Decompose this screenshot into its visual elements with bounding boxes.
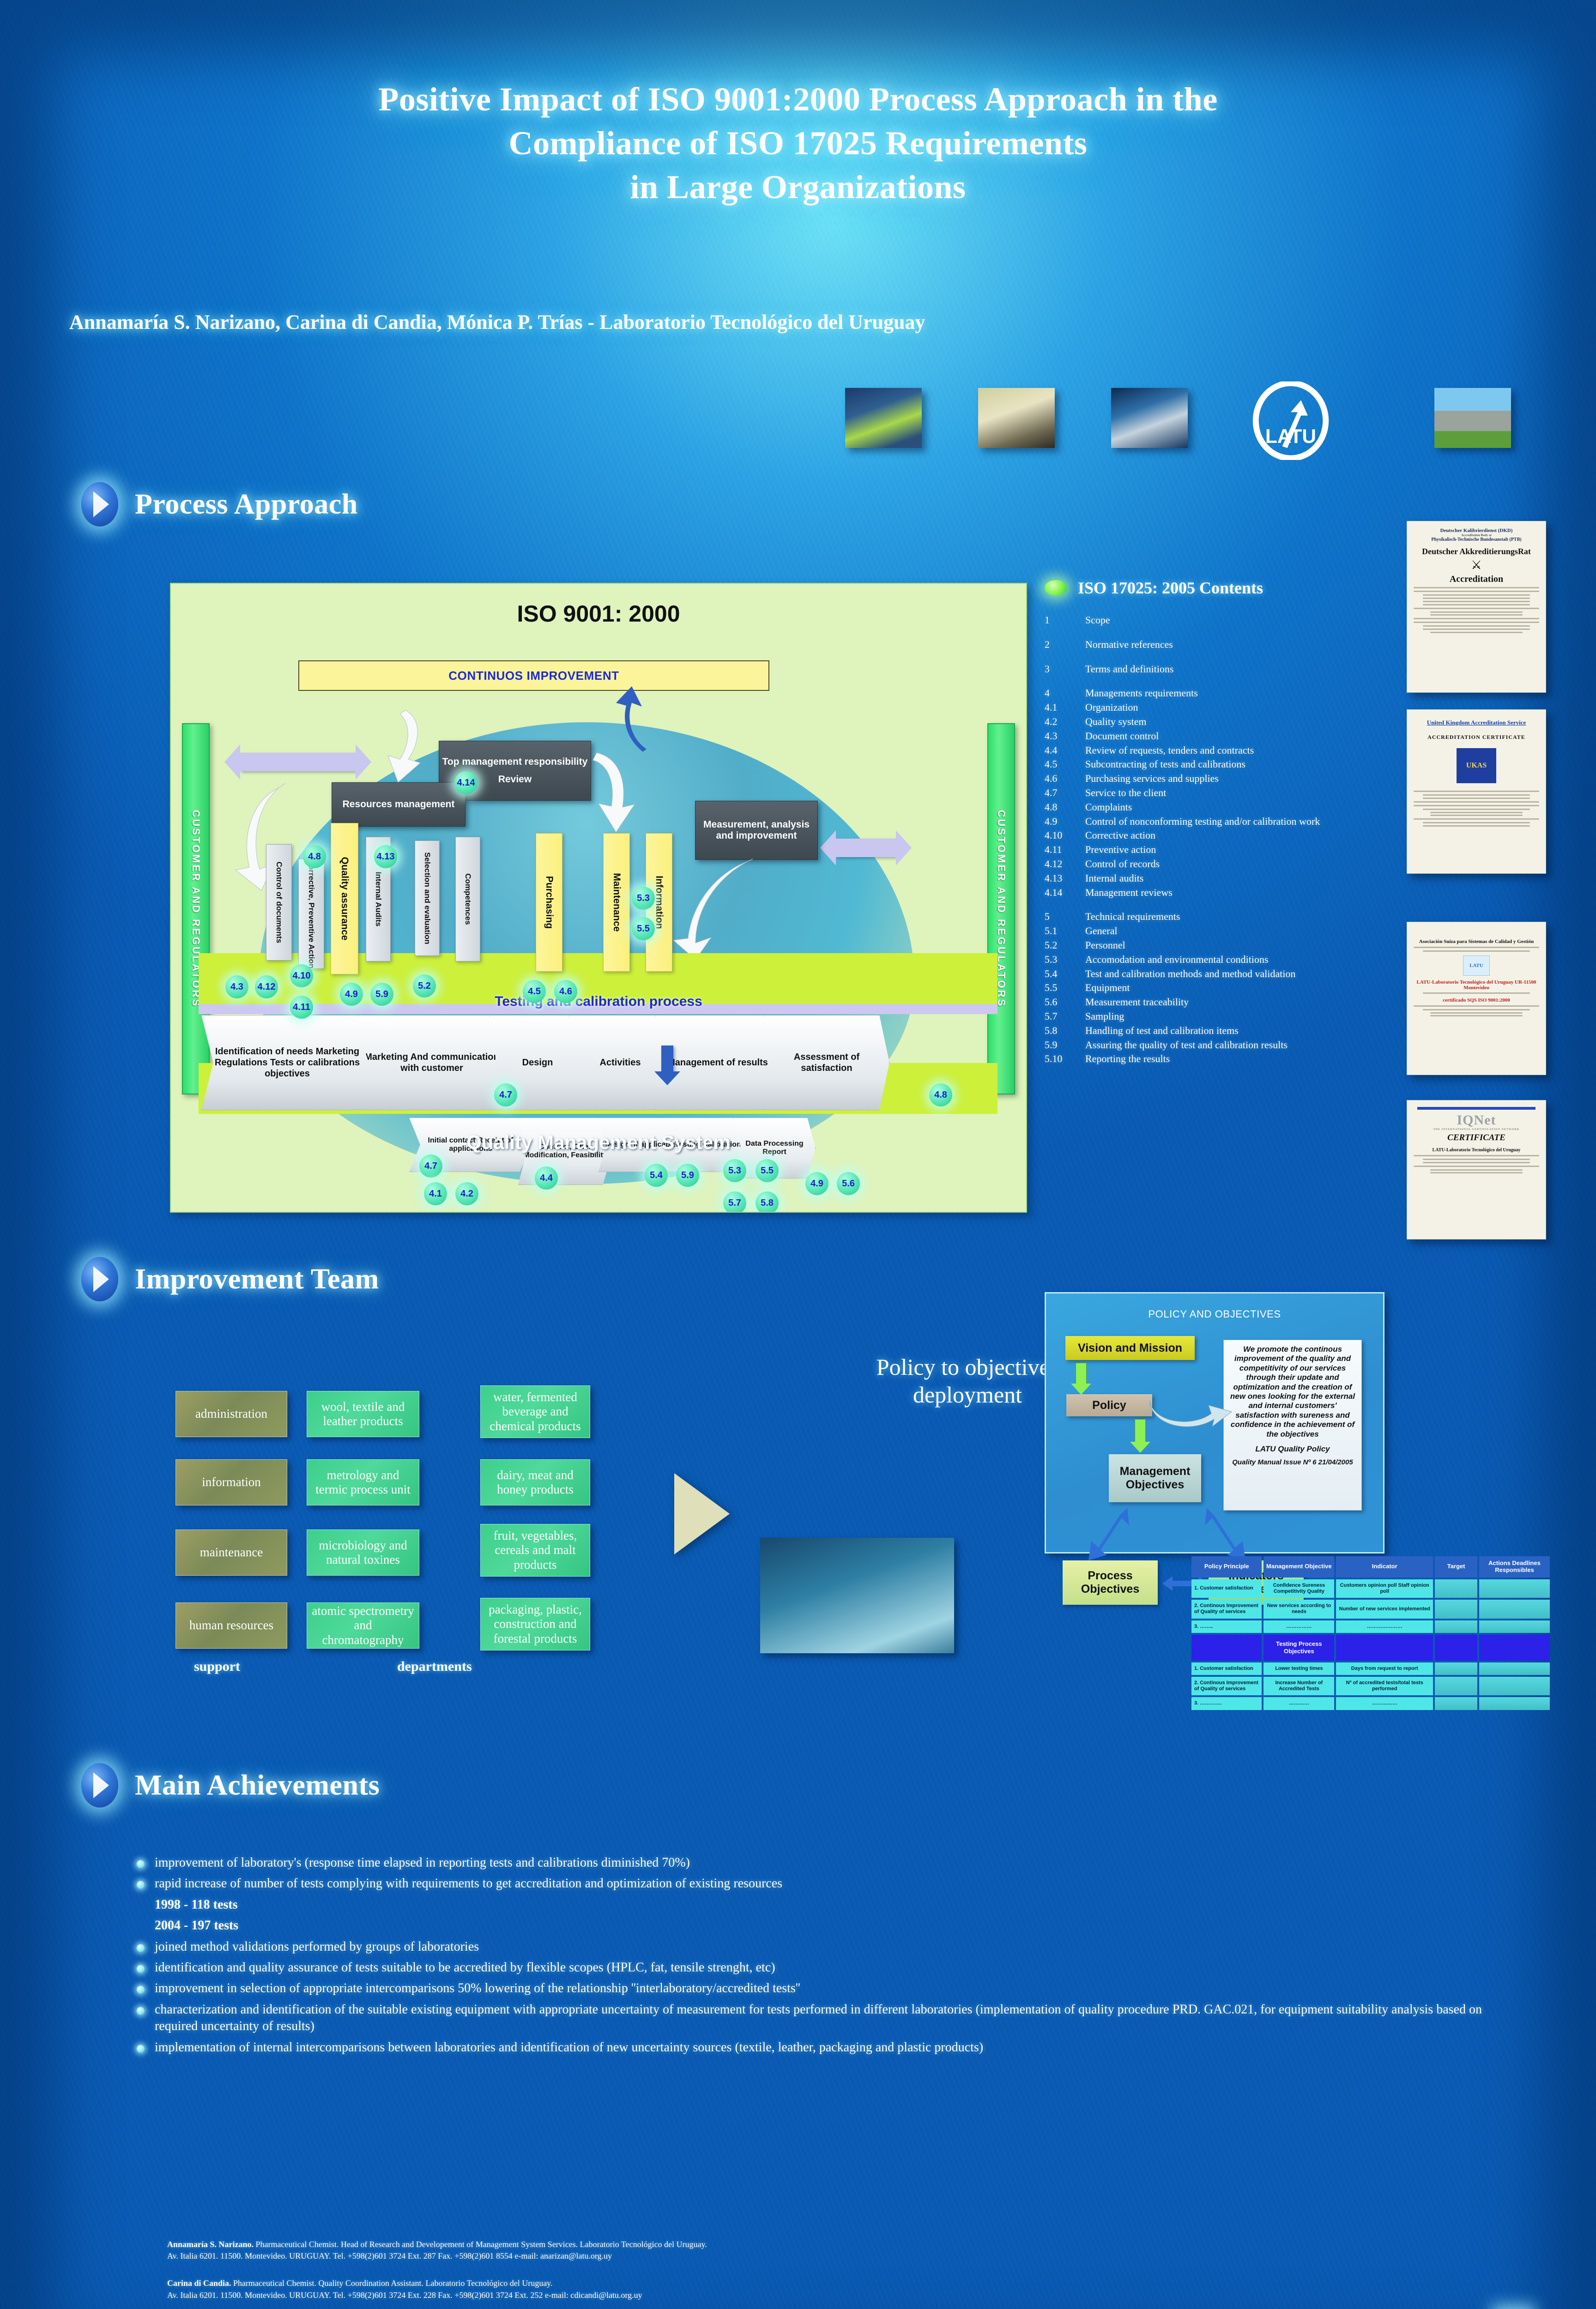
iso-clause-text: Internal audits [1085, 871, 1143, 886]
footer-author-block: Annamaría S. Narizano. Pharmaceutical Ch… [167, 2239, 1229, 2262]
iso-spacer [1045, 900, 1488, 910]
green-dot-icon [1045, 580, 1067, 596]
table-cell: Nº of accredited tests/total tests perfo… [1336, 1677, 1433, 1695]
footer-contacts: Annamaría S. Narizano. Pharmaceutical Ch… [167, 2239, 1229, 2309]
clause-bubble: 5.3 [723, 1159, 746, 1182]
table-cell: Increase Number of Accredited Tests [1263, 1677, 1334, 1695]
vbar-label: Control of documents [275, 862, 283, 943]
cert-head: Deutscher AkkreditierungsRat [1407, 547, 1546, 556]
iso-clause-text: Scope [1085, 613, 1110, 628]
clause-bubble: 5.3 [632, 887, 655, 910]
footer-author-role: Pharmaceutical Chemist. Head of Research… [254, 2240, 707, 2249]
table-separator-row: Testing Process Objectives [1191, 1635, 1550, 1661]
latu-logo: LATU [1247, 381, 1335, 460]
clause-bubble: 5.4 [645, 1164, 668, 1187]
iso-clause-text: Organization [1085, 701, 1138, 715]
vbar-maintenance: Maintenance [603, 833, 630, 972]
clause-bubble: 4.7 [494, 1083, 517, 1106]
vbar-competences: Competences [455, 837, 480, 961]
clause-bubble: 4.5 [523, 980, 546, 1003]
iso-clause-number: 4 [1045, 686, 1085, 701]
process-step-4: Activities [569, 1015, 671, 1110]
diagram-title: ISO 9001: 2000 [171, 600, 1026, 627]
ukas-logo: UKAS [1457, 748, 1496, 783]
iso-clause-text: Preventive action [1085, 843, 1156, 857]
table-separator-cell [1479, 1635, 1550, 1661]
vbar-label: Corrective, Preventive Action [307, 859, 315, 969]
iso-clause-number: 4.5 [1045, 757, 1085, 772]
iso-clause-text: Test and calibration methods and method … [1085, 967, 1295, 981]
iso-clause-number: 2 [1045, 638, 1085, 652]
table-cell [1479, 1697, 1550, 1710]
iso-clause-number: 4.8 [1045, 800, 1085, 815]
iso-clause-number: 4.2 [1045, 715, 1085, 729]
table-cell: 2. Continous Improvement of Quality of s… [1191, 1677, 1262, 1695]
vbar-label: Internal Audits [374, 872, 382, 926]
dept-box-microbiology: microbiology and natural toxines [307, 1529, 419, 1576]
support-box-human-resources: human resources [175, 1602, 287, 1649]
iso-clause-text: Assuring the quality of test and calibra… [1085, 1038, 1288, 1052]
table-cell [1435, 1579, 1477, 1598]
clause-bubble: 4.9 [805, 1172, 828, 1195]
team-meeting-photo [760, 1538, 954, 1653]
table-cell: …………… [1263, 1620, 1334, 1633]
table-row: 3. ………….……………………… [1191, 1697, 1550, 1710]
iso-clause-number: 4.10 [1045, 828, 1085, 843]
cert-kind: CERTIFICATE [1407, 1133, 1546, 1143]
footer-author-contact: Av. Italia 6201. 11500. Montevideo. URUG… [167, 2250, 1229, 2262]
vbar-quality-assurance: Quality assurance [331, 823, 358, 974]
curved-arrow-to-quote [1147, 1398, 1234, 1433]
clause-bubble: 5.5 [756, 1159, 779, 1182]
table-row: 2. Continous Improvement of Quality of s… [1191, 1600, 1550, 1618]
clause-bubble: 4.7 [419, 1154, 442, 1178]
table-cell: Days from request to report [1336, 1662, 1433, 1675]
table-cell [1435, 1620, 1477, 1633]
col-indicator: Indicator [1336, 1556, 1433, 1578]
iso-clause-number: 4.1 [1045, 701, 1085, 715]
vbar-label: Information [653, 876, 665, 929]
play-bullet-icon [81, 482, 118, 526]
vbar-selection-evaluation: Selection and evaluation [415, 840, 440, 956]
latu-mini-logo: LATU [1463, 955, 1490, 976]
table-cell [1479, 1662, 1550, 1675]
col-management-objective: Management Objective [1263, 1556, 1334, 1578]
certificate-ukas: United Kingdom Accreditation Service ACC… [1407, 709, 1546, 874]
iso-clause-number: 1 [1045, 613, 1085, 628]
table-cell: Customers opinion poll Staff opinion pol… [1336, 1579, 1433, 1598]
white-swoosh-arrow-2 [586, 748, 649, 836]
dept-box-spectrometry: atomic spectrometry and chromatography [307, 1602, 419, 1649]
clause-bubble: 5.2 [413, 974, 436, 997]
iso-clause-text: Subcontracting of tests and calibrations [1085, 757, 1245, 772]
iso17025-title: ISO 17025: 2005 Contents [1078, 578, 1263, 598]
table-cell: New services according to needs [1263, 1600, 1334, 1618]
dept-box-water-beverage: water, fermented beverage and chemical p… [480, 1385, 590, 1438]
section-title: Main Achievements [135, 1769, 380, 1802]
poster-title: Positive Impact of ISO 9001:2000 Process… [0, 78, 1596, 209]
process-step-5: Management of results [655, 1015, 780, 1110]
clause-bubble: 5.8 [756, 1191, 779, 1213]
section-title: Process Approach [135, 488, 358, 521]
table-row: 1. Customer satisfactionConfidence Suren… [1191, 1579, 1550, 1598]
iso-clause-text: Normative references [1085, 638, 1173, 652]
po-line2: Objectives [1081, 1583, 1139, 1596]
footer-author-role: Pharmaceutical Chemist. Quality Coordina… [231, 2279, 553, 2288]
table-cell [1435, 1697, 1477, 1710]
section-title: Improvement Team [135, 1263, 379, 1296]
clause-bubble: 5.9 [676, 1164, 699, 1187]
policy-quote: We promote the continous improvement of … [1229, 1345, 1356, 1439]
iso-clause-number: 5.4 [1045, 967, 1085, 981]
blue-down-arrow [661, 1046, 673, 1072]
achievement-item: joined method validations performed by g… [137, 1939, 1522, 1955]
play-bullet-icon [81, 1257, 118, 1301]
green-arrow-vm-to-policy [1076, 1363, 1087, 1384]
table-separator-cell [1336, 1635, 1433, 1661]
dept-box-dairy-meat: dairy, meat and honey products [480, 1459, 590, 1505]
support-box-administration: administration [175, 1391, 287, 1437]
white-swoosh-arrow-1 [378, 707, 438, 786]
clause-bubble: 5.9 [370, 983, 393, 1006]
iso-clause-text: General [1085, 924, 1118, 938]
eagle-icon: ⚔ [1407, 558, 1546, 572]
cert-sub: Accreditation Body at [1407, 533, 1546, 537]
lab-instrument-photo [1111, 388, 1188, 448]
process-step-2: Marketing And communication with custome… [357, 1015, 506, 1110]
table-cell: …………… [1336, 1697, 1433, 1710]
table-cell: 3. …………. [1191, 1697, 1262, 1710]
table-cell: 1. Customer satisfaction [1191, 1579, 1262, 1598]
table-row: 2. Continous Improvement of Quality of s… [1191, 1677, 1550, 1695]
sidebar-customer-regulators-right: CUSTOMER AND REGULATORS [987, 723, 1015, 1094]
table-separator-cell [1435, 1635, 1477, 1661]
table-cell [1479, 1600, 1550, 1618]
col-actions: Actions Deadlines Responsibles [1479, 1556, 1550, 1578]
iso-clause-number: 5.5 [1045, 981, 1085, 995]
vbar-label: Purchasing [544, 876, 555, 929]
footer-author-line: Annamaría S. Narizano. Pharmaceutical Ch… [167, 2239, 1229, 2250]
iso-clause-number: 5.7 [1045, 1009, 1085, 1024]
achievement-stat: 2004 - 197 tests [155, 1917, 1522, 1934]
iso-clause-row: 4.14Management reviews [1045, 886, 1488, 900]
review-label: Review [498, 774, 532, 785]
title-line-2: Compliance of ISO 17025 Requirements [0, 121, 1596, 165]
clause-bubble: 4.9 [340, 983, 363, 1006]
lavender-arrow-right [836, 839, 896, 857]
policy-box: Policy [1066, 1394, 1152, 1416]
bullet-dot-icon [137, 1860, 145, 1868]
iso-clause-number: 4.12 [1045, 857, 1085, 871]
iso-clause-number: 5.9 [1045, 1038, 1085, 1052]
iso-clause-text: Measurement traceability [1085, 995, 1189, 1009]
clause-bubble: 5.7 [723, 1191, 746, 1213]
policy-objectives-table: Policy Principle Management Objective In… [1190, 1554, 1552, 1712]
clause-bubble: 4.14 [454, 771, 478, 794]
achievement-item: improvement in selection of appropriate … [137, 1980, 1522, 1997]
iso-clause-text: Technical requirements [1085, 910, 1180, 924]
iso-clause-number: 4.9 [1045, 815, 1085, 829]
achievement-item: implementation of internal intercomparis… [137, 2039, 1522, 2056]
table-cell [1479, 1579, 1550, 1598]
latu-building-photo [1434, 388, 1511, 448]
table-separator-cell [1191, 1635, 1262, 1661]
quality-policy-quote-box: We promote the continous improvement of … [1223, 1340, 1362, 1511]
clause-bubble: 4.11 [290, 996, 313, 1019]
bullet-dot-icon [137, 1944, 145, 1952]
table-cell: Lower testing times [1263, 1662, 1334, 1675]
iso-clause-text: Managements requirements [1085, 686, 1198, 701]
mo-line2: Objectives [1126, 1478, 1184, 1492]
iso-clause-text: Control of nonconforming testing and/or … [1085, 815, 1320, 829]
table-cell [1435, 1662, 1477, 1675]
iso-clause-text: Quality system [1085, 715, 1147, 729]
support-box-information: information [175, 1459, 287, 1505]
clause-bubble: 4.2 [455, 1182, 478, 1205]
iso-clause-text: Sampling [1085, 1009, 1124, 1024]
po-line1: Process [1088, 1569, 1132, 1583]
clause-bubble: 4.1 [424, 1182, 447, 1205]
bullet-dot-icon [137, 1965, 145, 1973]
process-objectives-box: Process Objectives [1063, 1560, 1158, 1605]
iso-clause-number: 5 [1045, 910, 1085, 924]
achievement-text: improvement in selection of appropriate … [155, 1980, 800, 1997]
policy-source: LATU Quality Policy [1229, 1445, 1356, 1454]
iso-clause-number: 5.8 [1045, 1024, 1085, 1038]
col-target: Target [1435, 1556, 1477, 1578]
table-cell: ………… [1263, 1697, 1334, 1710]
cert-body: Physikalisch-Technische Bundesanstalt (P… [1407, 537, 1546, 542]
bullet-dot-icon [137, 2045, 145, 2053]
iso-clause-text: Management reviews [1085, 886, 1173, 900]
achievements-list: improvement of laboratory's (response ti… [137, 1855, 1522, 2060]
iso-clause-number: 4.11 [1045, 843, 1085, 857]
clause-bubble: 4.4 [535, 1167, 558, 1190]
clause-bubble: 4.10 [290, 964, 313, 987]
table-cell: 2. Continous Improvement of Quality of s… [1191, 1600, 1262, 1618]
clause-bubble: 4.13 [374, 845, 397, 868]
cert-head: LATU-Laboratorio Tecnológico del Uruguay… [1407, 979, 1546, 991]
play-bullet-icon [81, 1763, 118, 1807]
vbar-control-of-documents: Control of documents [266, 844, 292, 961]
table-cell [1435, 1600, 1477, 1618]
support-box-maintenance: maintenance [175, 1529, 287, 1576]
iso-clause-text: Accomodation and environmental condition… [1085, 953, 1269, 967]
table-cell: ………………… [1336, 1620, 1433, 1633]
mo-line1: Management [1120, 1465, 1191, 1478]
iso-clause-text: Terms and definitions [1085, 662, 1174, 677]
footer-author-name: Annamaría S. Narizano. [167, 2240, 254, 2249]
top-management-label: Top management responsibility [442, 756, 588, 768]
achievement-item: improvement of laboratory's (response ti… [137, 1855, 1522, 1871]
svg-text:LATU: LATU [1265, 426, 1316, 447]
footer-author-name: Carina di Candia. [167, 2279, 231, 2288]
achievement-item: characterization and identification of t… [137, 2001, 1522, 2035]
iso-clause-text: Review of requests, tenders and contract… [1085, 743, 1254, 758]
iso-clause-number: 5.10 [1045, 1052, 1085, 1066]
bullet-dot-icon [137, 1986, 145, 1994]
certificate-sqs: Asociación Suiza para Sistemas de Calida… [1407, 922, 1546, 1075]
management-objectives-box: Management Objectives [1109, 1454, 1201, 1502]
iso-clause-number: 4.7 [1045, 786, 1085, 800]
table-cell: 1. Customer satisfaction [1191, 1662, 1262, 1675]
table-cell: Number of new services implemented [1336, 1600, 1433, 1618]
footer-author-contact: Av. Italia 6201. 11500. Montevideo. URUG… [167, 2290, 1229, 2301]
iso-clause-text: Service to the client [1085, 786, 1166, 800]
achievement-text: rapid increase of number of tests comply… [155, 1875, 782, 1892]
funnel-triangle-top [674, 1473, 730, 1554]
iso-clause-number: 5.2 [1045, 938, 1085, 953]
iso-clause-number: 4.6 [1045, 772, 1085, 786]
clause-bubble: 4.8 [303, 845, 326, 868]
process-step-6: Assessment of satisfaction [764, 1015, 889, 1110]
section-header-main-achievements: Main Achievements [81, 1763, 380, 1807]
iso-clause-number: 4.13 [1045, 871, 1085, 886]
sidebar-customer-regulators-left: CUSTOMER AND REGULATORS [182, 723, 210, 1094]
achievement-text: improvement of laboratory's (response ti… [155, 1855, 690, 1871]
policy-issue: Quality Manual Issue Nº 6 21/04/2005 [1229, 1458, 1356, 1467]
clause-bubble: 5.6 [837, 1172, 860, 1195]
iso-clause-number: 4.3 [1045, 729, 1085, 743]
vbar-label: Maintenance [611, 873, 622, 931]
achievement-text: characterization and identification of t… [155, 2001, 1522, 2035]
footer-author-block: Carina di Candia. Pharmaceutical Chemist… [167, 2278, 1229, 2301]
cert-org: IQNet [1407, 1112, 1546, 1128]
title-line-1: Positive Impact of ISO 9001:2000 Process… [0, 78, 1596, 121]
clause-bubble: 5.5 [632, 917, 655, 940]
certificate-dkd: Deutscher Kalibrierdienst (DKD) Accredit… [1407, 521, 1546, 693]
certificate-iqnet: IQNet THE INTERNATIONAL CERTIFICATION NE… [1407, 1100, 1546, 1239]
table-cell: Confidence Sureness Competitivity Qualit… [1263, 1579, 1334, 1598]
vbar-label: Selection and evaluation [423, 852, 431, 944]
col-policy-principle: Policy Principle [1191, 1556, 1262, 1578]
continuous-improvement-banner: CONTINUOS IMPROVEMENT [298, 660, 769, 691]
bullet-dot-icon [137, 1881, 145, 1889]
measurement-analysis-box: Measurement, analysis and improvement [695, 801, 818, 860]
table-separator-cell: Testing Process Objectives [1263, 1635, 1334, 1661]
white-swoosh-arrow-4 [670, 855, 762, 961]
clause-bubble: 4.8 [929, 1083, 952, 1106]
vision-mission-box: Vision and Mission [1065, 1336, 1195, 1360]
iso-clause-text: Personnel [1085, 938, 1125, 953]
vbar-purchasing: Purchasing [536, 833, 562, 972]
iso-clause-text: Reporting the results [1085, 1052, 1170, 1066]
table-cell [1435, 1677, 1477, 1695]
table-cell: 3. …….. [1191, 1620, 1262, 1633]
achievement-text: implementation of internal intercomparis… [155, 2039, 983, 2056]
iso-clause-text: Corrective action [1085, 828, 1155, 843]
cert-kind: ACCREDITATION CERTIFICATE [1407, 734, 1546, 741]
blue-feedback-arrow [577, 684, 656, 754]
iso-clause-number: 3 [1045, 662, 1085, 677]
vbar-label: Quality assurance [339, 857, 350, 941]
table-cell [1479, 1620, 1550, 1633]
achievement-text: identification and quality assurance of … [155, 1959, 775, 1976]
resources-management-box: Resources management [332, 782, 465, 827]
iso-clause-text: Handling of test and calibration items [1085, 1024, 1239, 1038]
policy-objectives-panel: POLICY AND OBJECTIVES Vision and Mission… [1045, 1292, 1384, 1553]
achievement-text: joined method validations performed by g… [155, 1939, 479, 1955]
table-header-row: Policy Principle Management Objective In… [1191, 1556, 1550, 1578]
iso-clause-text: Complaints [1085, 800, 1132, 815]
departments-column-label: departments [397, 1659, 472, 1674]
cert-head: LATU-Laboratorio Tecnológico del Uruguay [1407, 1148, 1546, 1153]
cert-org: Asociación Suiza para Sistemas de Calida… [1407, 939, 1546, 944]
section-header-process-approach: Process Approach [81, 482, 358, 526]
lab-balance-photo [978, 388, 1055, 448]
lab-glassware-photo [845, 388, 922, 448]
cert-kind: Accreditation [1407, 574, 1546, 585]
iso-clause-text: Equipment [1085, 981, 1130, 995]
vbar-corrective-preventive-action: Corrective, Preventive Action [298, 859, 324, 969]
iso-clause-text: Control of records [1085, 857, 1160, 871]
cert-kind: certificado SQS ISO 9001:2000 [1407, 997, 1546, 1003]
process-step-1: Identification of needs Marketing Regula… [201, 1015, 373, 1110]
iso-clause-number: 5.3 [1045, 953, 1085, 967]
achievement-item: identification and quality assurance of … [137, 1959, 1522, 1976]
bullet-dot-icon [137, 2007, 145, 2015]
double-arrow-mo-po [1085, 1505, 1136, 1563]
section-header-improvement-team: Improvement Team [81, 1257, 379, 1301]
table-cell [1479, 1677, 1550, 1695]
table-row: 1. Customer satisfactionLower testing ti… [1191, 1662, 1550, 1675]
clause-bubble: 4.3 [225, 975, 248, 998]
clause-bubble: 4.12 [255, 975, 278, 998]
cert-org: Deutscher Kalibrierdienst (DKD) [1407, 528, 1546, 533]
iso-clause-number: 5.6 [1045, 995, 1085, 1009]
policy-panel-title: POLICY AND OBJECTIVES [1046, 1308, 1383, 1320]
iso-clause-text: Purchasing services and supplies [1085, 772, 1219, 786]
author-line: Annamaría S. Narizano, Carina di Candia,… [69, 310, 1529, 334]
footer-author-line: Carina di Candia. Pharmaceutical Chemist… [167, 2278, 1229, 2289]
lavender-arrow-left [240, 753, 356, 771]
vbar-label: Competences [464, 873, 472, 925]
achievement-stat: 1998 - 118 tests [155, 1897, 1522, 1913]
green-arrow-policy-to-mo [1135, 1419, 1146, 1442]
iso-clause-number: 4.14 [1045, 886, 1085, 900]
iso-clause-number: 4.4 [1045, 743, 1085, 758]
iso-clause-number: 5.1 [1045, 924, 1085, 938]
iso9001-process-diagram: ISO 9001: 2000 CONTINUOS IMPROVEMENT CUS… [170, 583, 1027, 1213]
dept-box-fruit-vegetables: fruit, vegetables, cereals and malt prod… [480, 1524, 590, 1577]
cert-org: United Kingdom Accreditation Service [1407, 719, 1546, 726]
title-line-3: in Large Organizations [0, 165, 1596, 209]
dept-box-metrology: metrology and termic process unit [307, 1459, 419, 1505]
dept-box-wool-textile: wool, textile and leather products [307, 1391, 419, 1437]
clause-bubble: 4.6 [554, 980, 577, 1003]
policy-to-objectives-caption: Policy to objectives deployment [859, 1353, 1076, 1408]
achievement-item: rapid increase of number of tests comply… [137, 1875, 1522, 1892]
table-row: 3. ……..……………………………… [1191, 1620, 1550, 1633]
quality-management-system-label: Quality Management System [171, 1131, 1026, 1154]
iso-clause-text: Document control [1085, 729, 1159, 743]
dept-box-packaging-plastic: packaging, plastic, construction and for… [480, 1598, 590, 1650]
support-column-label: support [194, 1659, 240, 1674]
